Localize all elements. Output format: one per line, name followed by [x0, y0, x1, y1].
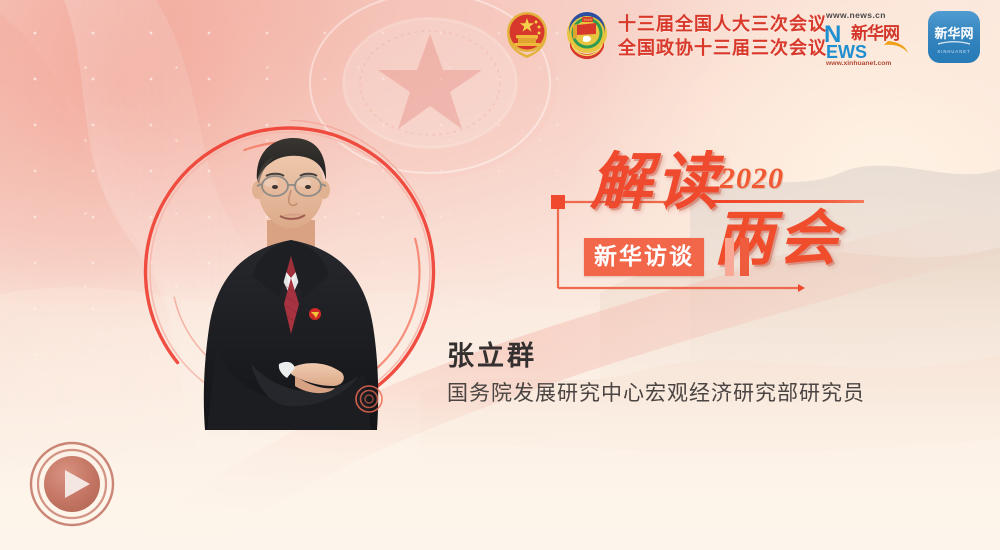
app-logo-sub: XINHUANET	[937, 49, 970, 54]
decorative-mini-circle	[348, 378, 390, 420]
cppcc-emblem-icon: 1949	[563, 8, 611, 64]
app-logo-brand-cn: 新华网	[934, 26, 973, 41]
play-button[interactable]	[28, 440, 116, 528]
meeting-title-line-1: 十三届全国人大三次会议	[618, 12, 827, 36]
svg-text:新华网: 新华网	[851, 23, 899, 43]
news-logo-ews: EWS	[826, 42, 867, 62]
title-year: 2020	[720, 162, 784, 196]
title-rule	[712, 200, 864, 203]
news-logo-brand-cn: 新华网	[850, 22, 899, 44]
xinhua-news-logo[interactable]: www.news.cn N EWS 新华网 www.xinhuanet.com	[824, 8, 916, 66]
national-emblem-of-china-icon	[503, 8, 551, 64]
news-logo-top-url: www.news.cn	[825, 10, 886, 20]
title-main-text: 解读	[590, 150, 722, 216]
meeting-title-line-2: 全国政协十三届三次会议	[618, 36, 827, 60]
news-logo-bottom-url: www.xinhuanet.com	[825, 60, 891, 66]
meeting-title: 十三届全国人大三次会议 全国政协十三届三次会议	[618, 12, 827, 60]
speaker-role: 国务院发展研究中心宏观经济研究部研究员	[447, 377, 865, 407]
banner-header: 1949 十三届全国人大三次会议 全国政协十三届三次会议 www.news.cn…	[0, 0, 1000, 76]
speaker-portrait-block	[140, 120, 440, 430]
speaker-name: 张立群	[447, 334, 537, 373]
title-badge: 新华访谈	[584, 238, 704, 276]
video-cover-banner: 1949 十三届全国人大三次会议 全国政协十三届三次会议 www.news.cn…	[0, 0, 1000, 550]
key-visual-title: 解读 2020 两会 新华访谈	[548, 150, 868, 300]
emblem-group: 1949	[503, 8, 611, 64]
title-tick-marks	[725, 238, 749, 276]
svg-text:1949: 1949	[583, 17, 593, 22]
xinhua-app-logo[interactable]: 新华网 XINHUANET	[928, 11, 980, 63]
